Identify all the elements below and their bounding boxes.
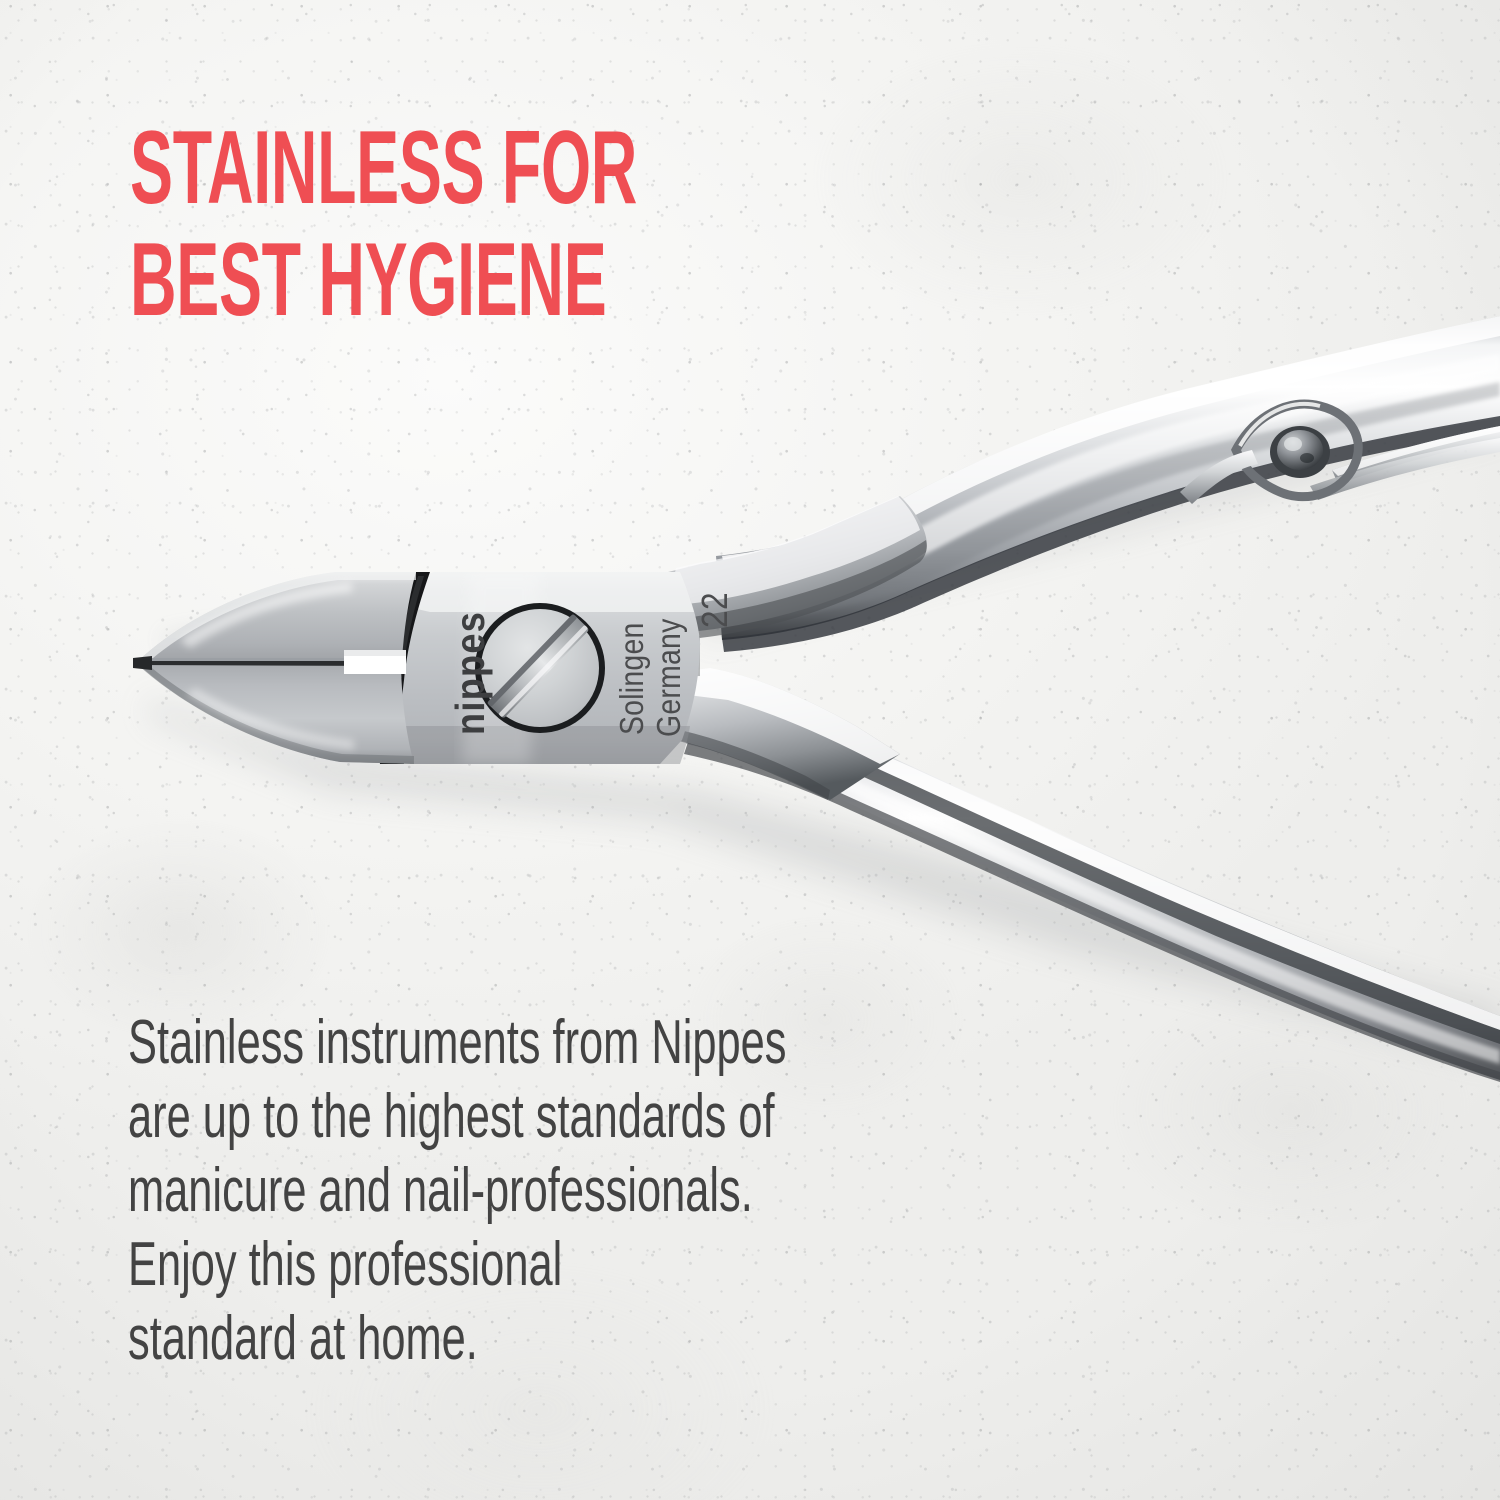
body-line-3: manicure and nail-professionals. [128,1154,863,1228]
body-line-2: are up to the highest standards of [128,1080,863,1154]
headline-line-1: STAINLESS FOR [130,112,688,224]
body-line-5: standard at home. [128,1302,863,1376]
body-line-4: Enjoy this professional [128,1228,863,1302]
cutting-jaw [133,572,416,764]
headline-line-2: BEST HYGIENE [130,224,688,336]
jaw-tip [133,656,152,670]
headline: STAINLESS FOR BEST HYGIENE [130,112,1030,336]
body-copy: Stainless instruments from Nippes are up… [128,1006,1178,1376]
rivet-highlight [1284,437,1302,451]
pivot-screw [478,606,602,730]
body-line-1: Stainless instruments from Nippes [128,1006,863,1080]
product-banner: nippes Solingen Germany 22 STAINLESS FOR… [0,0,1500,1500]
jaw-hotspot-edge [344,650,406,656]
rivet-shadow [1300,453,1314,463]
pivot-rivet [1270,426,1330,478]
rivet-head [1277,430,1323,470]
head-plate [377,572,700,764]
